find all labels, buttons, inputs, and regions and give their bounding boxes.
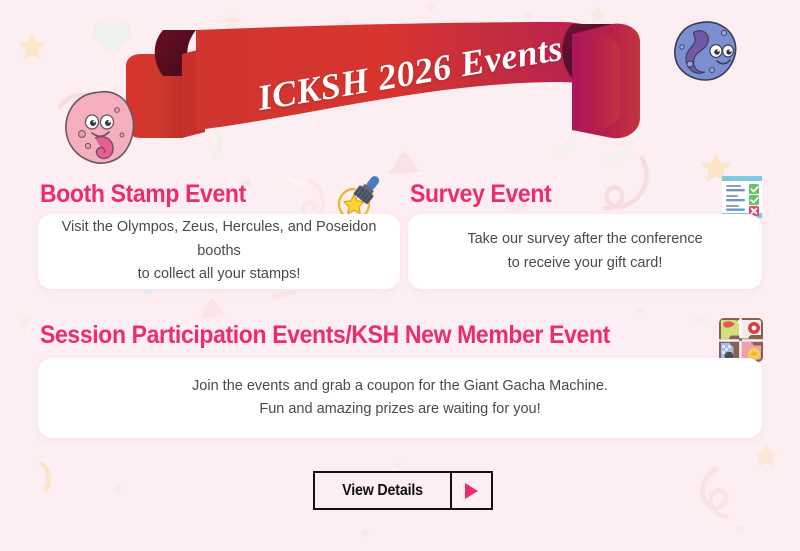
play-triangle-icon bbox=[465, 483, 478, 499]
session-heading-part-one: Session Participation Events bbox=[40, 321, 345, 349]
survey-body-line-2: to receive your gift card! bbox=[508, 252, 663, 275]
view-details-arrow-cell[interactable] bbox=[450, 473, 491, 508]
event-promo-page: ICKSH 2026 Events bbox=[0, 0, 800, 551]
booth-stamp-heading-text: Booth Stamp Event bbox=[40, 180, 246, 208]
blue-blob-mascot bbox=[672, 20, 738, 87]
view-details-label: View Details bbox=[320, 473, 444, 508]
session-heading-part-two: KSH New Member Event bbox=[351, 321, 609, 349]
booth-stamp-body-line-1: Visit the Olympos, Zeus, Hercules, and P… bbox=[38, 216, 400, 263]
survey-heading: Survey Event bbox=[410, 180, 551, 209]
booth-stamp-card: Visit the Olympos, Zeus, Hercules, and P… bbox=[38, 214, 400, 289]
view-details-button[interactable]: View Details bbox=[313, 471, 493, 510]
survey-card: Take our survey after the conference to … bbox=[408, 214, 762, 289]
session-participation-heading: Session Participation Events/KSH New Mem… bbox=[40, 321, 610, 350]
survey-heading-text: Survey Event bbox=[410, 180, 551, 208]
pink-blob-mascot bbox=[62, 88, 138, 171]
session-body-line-2: Fun and amazing prizes are waiting for y… bbox=[259, 398, 540, 421]
survey-body-line-1: Take our survey after the conference bbox=[467, 228, 702, 251]
booth-stamp-body-line-2: to collect all your stamps! bbox=[138, 263, 301, 286]
session-body-line-1: Join the events and grab a coupon for th… bbox=[192, 375, 608, 398]
session-participation-card: Join the events and grab a coupon for th… bbox=[38, 358, 762, 438]
booth-stamp-heading: Booth Stamp Event bbox=[40, 180, 246, 209]
